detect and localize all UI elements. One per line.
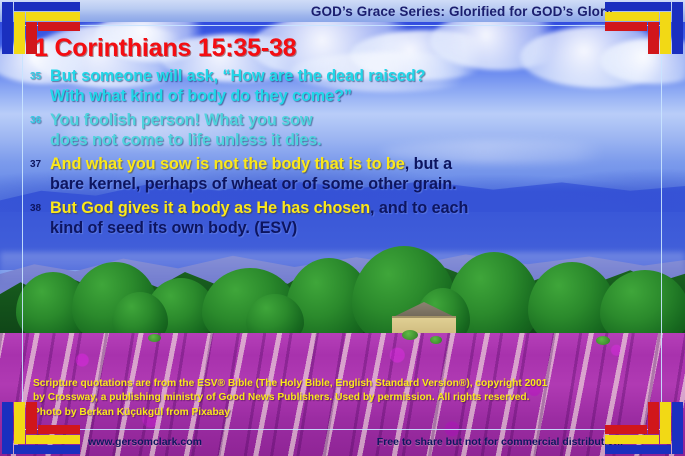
bracket-blue-horizontal [14,445,80,454]
bracket-red-vertical [648,22,659,54]
bracket-yellow-horizontal [26,12,80,21]
verse-line: bare kernel, perhaps of wheat or of some… [50,174,457,194]
bracket-yellow-vertical [660,402,671,444]
verse-text-run: With what kind of body do they come?” [50,87,352,105]
footer-bar: www.gersomclark.com Free to share but no… [0,430,685,456]
verse-text: You foolish person! What you sowdoes not… [50,110,322,150]
corner-bracket-top-right [605,2,683,64]
verse-text: But someone will ask, “How are the dead … [50,66,425,106]
verse-text-run: does not come to life unless it dies. [50,131,322,149]
bracket-red-vertical [26,22,37,54]
verse-text-run: And what you sow is not the body that is… [50,155,405,173]
verse-text-run: , but a [405,155,452,173]
bracket-red-vertical [26,402,37,434]
verse-line: And what you sow is not the body that is… [50,154,457,174]
verse-text-run: , and to each [370,199,468,217]
bracket-yellow-horizontal [605,435,659,444]
verse-list: 35But someone will ask, “How are the dea… [30,66,645,242]
bracket-yellow-vertical [14,402,25,444]
bracket-blue-vertical [672,2,683,54]
bracket-blue-horizontal [605,445,671,454]
verse-text-run: But God gives it a body as He has chosen [50,199,370,217]
bracket-yellow-vertical [660,12,671,54]
verse-line: But God gives it a body as He has chosen… [50,198,468,218]
bracket-red-horizontal [605,425,647,434]
bracket-red-vertical [648,402,659,434]
bracket-blue-vertical [672,402,683,454]
verse-line: does not come to life unless it dies. [50,130,322,150]
corner-bracket-bottom-right [605,392,683,454]
usage-note: Free to share but not for commercial dis… [377,436,623,448]
verse-36: 36You foolish person! What you sowdoes n… [30,110,645,150]
scripture-slide: GOD’s Grace Series: Glorified for GOD’s … [0,0,685,456]
verse-text-run: kind of seed its own body. (ESV) [50,219,297,237]
copyright-block: Scripture quotations are from the ESV® B… [33,377,633,420]
corner-bracket-top-left [2,2,80,64]
verse-line: With what kind of body do they come?” [50,86,425,106]
verse-line: kind of seed its own body. (ESV) [50,218,468,238]
photo-credit: Photo by Berkan Küçükgül from Pixabay [33,406,633,420]
verse-line: You foolish person! What you sow [50,110,322,130]
bracket-blue-vertical [2,402,13,454]
slide-content: 1 Corinthians 15:35-38 35But someone wil… [0,0,685,456]
verse-37: 37And what you sow is not the body that … [30,154,645,194]
verse-number: 35 [30,66,50,82]
verse-number: 36 [30,110,50,126]
bracket-yellow-vertical [14,12,25,54]
bracket-blue-horizontal [14,2,80,11]
verse-number: 38 [30,198,50,214]
website-link[interactable]: www.gersomclark.com [88,436,202,448]
bracket-red-horizontal [38,425,80,434]
verse-text-run: You foolish person! What you sow [50,111,313,129]
bracket-red-horizontal [38,22,80,31]
verse-line: But someone will ask, “How are the dead … [50,66,425,86]
verse-35: 35But someone will ask, “How are the dea… [30,66,645,106]
verse-text-run: But someone will ask, “How are the dead … [50,67,425,85]
bracket-red-horizontal [605,22,647,31]
verse-38: 38But God gives it a body as He has chos… [30,198,645,238]
bracket-blue-vertical [2,2,13,54]
verse-number: 37 [30,154,50,170]
corner-bracket-bottom-left [2,392,80,454]
verse-text-run: bare kernel, perhaps of wheat or of some… [50,175,457,193]
copyright-line-1: Scripture quotations are from the ESV® B… [33,377,633,391]
verse-text: And what you sow is not the body that is… [50,154,457,194]
bracket-blue-horizontal [605,2,671,11]
verse-text: But God gives it a body as He has chosen… [50,198,468,238]
bracket-yellow-horizontal [26,435,80,444]
copyright-line-2: by Crossway, a publishing ministry of Go… [33,391,633,405]
bracket-yellow-horizontal [605,12,659,21]
